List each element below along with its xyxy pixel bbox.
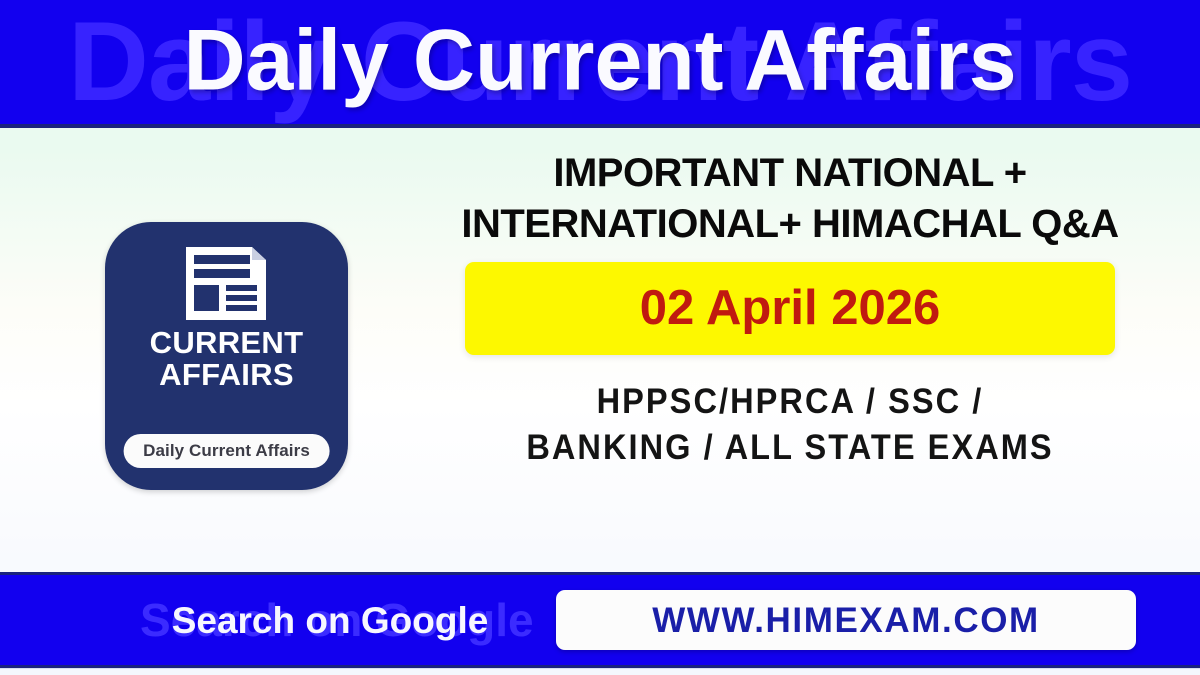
exam-list-line1: HPPSC/HPRCA / SSC / <box>409 379 1172 425</box>
bottom-edge-strip <box>0 668 1200 675</box>
logo-wordmark: CURRENT AFFAIRS <box>150 327 304 391</box>
search-on-google-label: Search on Google <box>172 600 489 641</box>
exam-list-line2: BANKING / ALL STATE EXAMS <box>409 425 1172 471</box>
logo-badge-label: Daily Current Affairs <box>143 441 310 460</box>
headline-line2: INTERNATIONAL+ HIMACHAL Q&A <box>386 199 1194 250</box>
logo-wordmark-line2: AFFAIRS <box>150 359 304 391</box>
website-url-box[interactable]: WWW.HIMEXAM.COM <box>556 590 1136 650</box>
newspaper-icon <box>186 247 268 320</box>
daily-current-affairs-poster: Daily Current Affairs Daily Current Affa… <box>0 0 1200 675</box>
poster-header: Daily Current Affairs Daily Current Affa… <box>0 0 1200 128</box>
headline-line1: IMPORTANT NATIONAL + <box>386 148 1194 199</box>
date-text: 02 April 2026 <box>640 284 941 333</box>
page-title: Daily Current Affairs <box>0 17 1200 103</box>
exam-list: HPPSC/HPRCA / SSC / BANKING / ALL STATE … <box>409 379 1172 470</box>
logo-wordmark-line1: CURRENT <box>150 327 304 359</box>
date-banner: 02 April 2026 <box>465 262 1115 355</box>
current-affairs-logo: CURRENT AFFAIRS Daily Current Affairs <box>105 222 348 490</box>
headline: IMPORTANT NATIONAL + INTERNATIONAL+ HIMA… <box>380 148 1200 250</box>
poster-footer: Search on Google Search on Google WWW.HI… <box>0 572 1200 668</box>
logo-badge: Daily Current Affairs <box>123 434 330 468</box>
poster-content: IMPORTANT NATIONAL + INTERNATIONAL+ HIMA… <box>380 148 1200 558</box>
website-url-text: WWW.HIMEXAM.COM <box>652 603 1040 638</box>
search-on-google-block: Search on Google Search on Google <box>140 602 520 639</box>
